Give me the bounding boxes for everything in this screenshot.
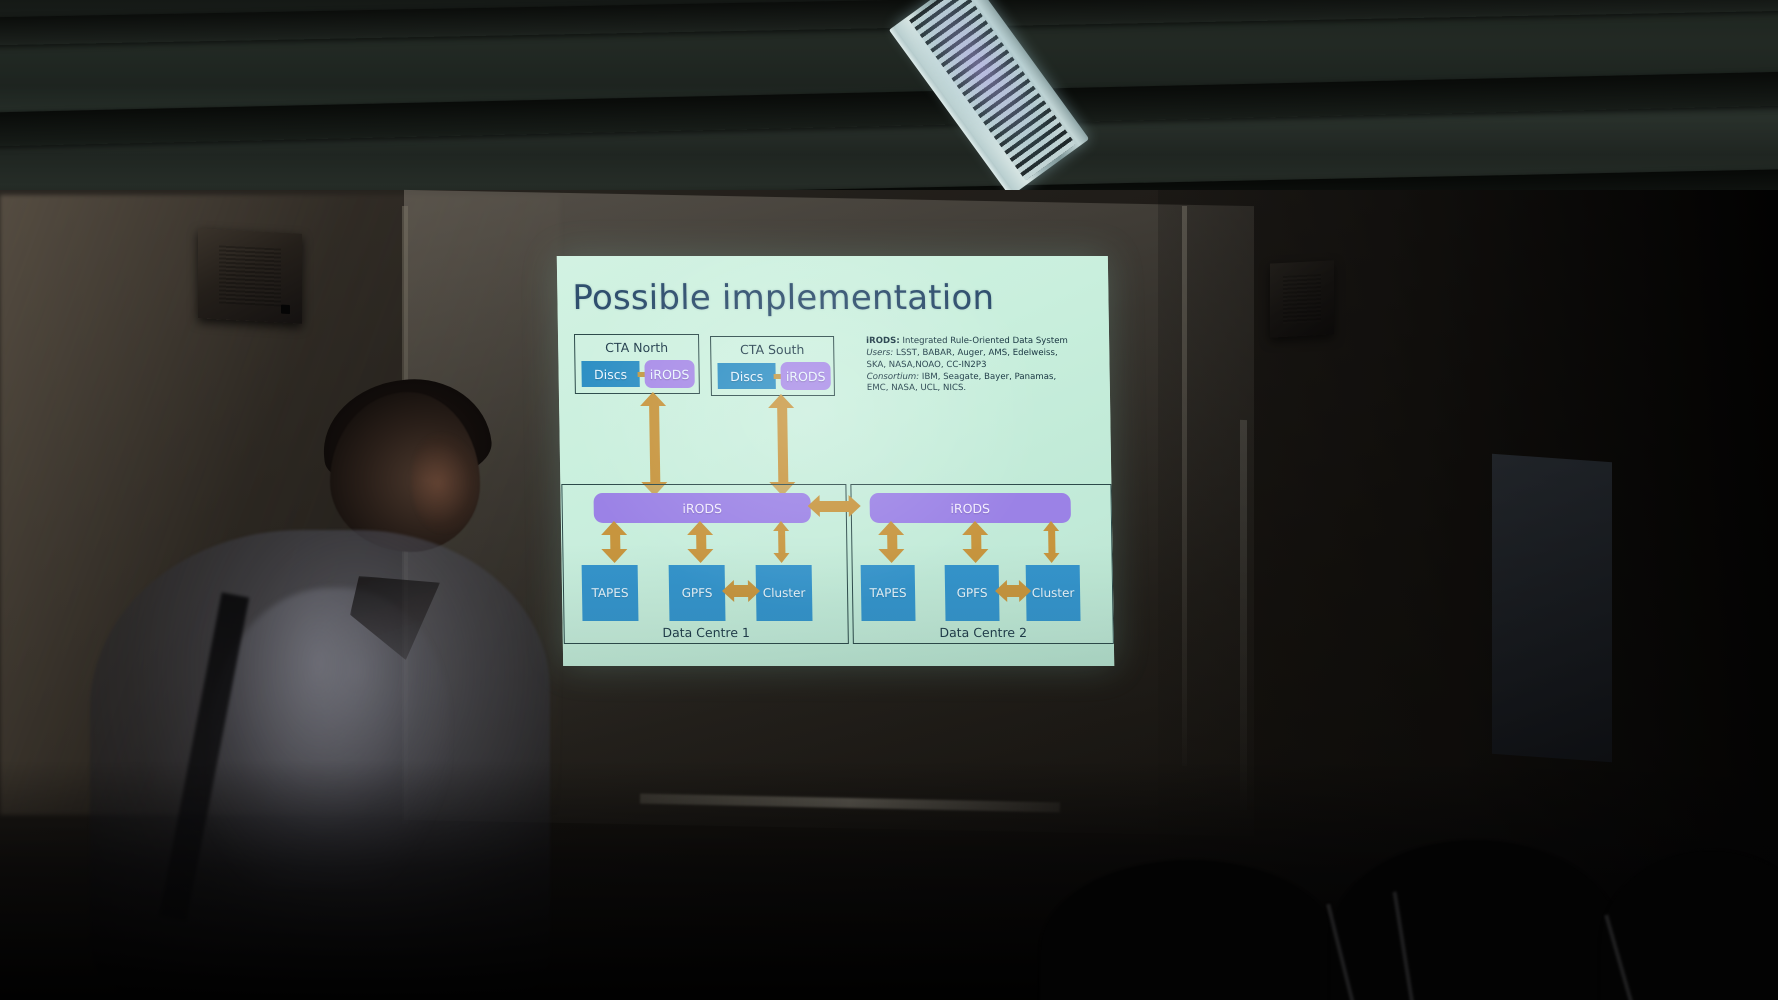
chair-frame-rail	[1604, 914, 1644, 1000]
info-text-users: LSST, BABAR, Auger, AMS, Edelweiss,	[893, 348, 1058, 358]
component-discs-north: Discs	[581, 361, 639, 387]
site-box-cta-north: CTA North Discs iRODS	[574, 334, 700, 394]
info-line-consortium: Consortium: IBM, Seagate, Bayer, Panamas…	[867, 372, 1099, 384]
component-irods-north: iRODS	[644, 360, 694, 388]
component-irods-south: iRODS	[780, 362, 830, 390]
info-line-users-cont: SKA, NASA,NOAO, CC-IN2P3	[866, 360, 1098, 372]
data-centre-1-irods-bar: iRODS	[593, 493, 810, 523]
info-line-definition: iRODS: Integrated Rule-Oriented Data Sys…	[866, 336, 1098, 348]
info-text-definition: Integrated Rule-Oriented Data System	[900, 336, 1068, 346]
projected-slide: Possible implementation CTA North Discs …	[557, 256, 1115, 666]
screen-edge-left	[402, 206, 408, 824]
dc1-resource-cluster: Cluster	[756, 565, 813, 621]
lecture-room-photo: Possible implementation CTA North Discs …	[0, 0, 1778, 1000]
slide-title: Possible implementation	[572, 278, 994, 318]
data-centre-1-box: iRODS TAPES GPFS Clus	[561, 484, 849, 644]
info-text-consortium: IBM, Seagate, Bayer, Panamas,	[919, 372, 1056, 382]
info-line-consortium-cont: EMC, NASA, UCL, NICS.	[867, 383, 1099, 395]
component-discs-south: Discs	[717, 363, 775, 389]
data-centre-2-label: Data Centre 2	[854, 625, 1113, 640]
data-centre-1-label: Data Centre 1	[565, 625, 848, 640]
site-label-cta-south: CTA South	[711, 342, 833, 357]
dc1-resource-gpfs: GPFS	[669, 565, 726, 621]
data-centre-2-box: iRODS TAPES GPFS Clus	[850, 484, 1114, 644]
wall-panel-right	[1492, 454, 1612, 762]
info-lead-users: Users:	[866, 348, 893, 358]
speaker-grille	[219, 246, 281, 307]
dc2-resource-gpfs: GPFS	[945, 565, 1000, 621]
chair-frame-rail	[1393, 892, 1420, 1000]
dc1-resource-tapes: TAPES	[582, 565, 639, 621]
dc2-resource-cluster: Cluster	[1026, 565, 1081, 621]
info-lead-irods: iRODS:	[866, 336, 900, 346]
irods-info-block: iRODS: Integrated Rule-Oriented Data Sys…	[866, 336, 1099, 395]
door-frame-edge	[1240, 420, 1247, 810]
info-line-users: Users: LSST, BABAR, Auger, AMS, Edelweis…	[866, 348, 1098, 360]
info-lead-consortium: Consortium:	[867, 372, 920, 382]
speaker-mount-bracket	[281, 305, 290, 314]
dc2-resource-tapes: TAPES	[861, 565, 916, 621]
site-label-cta-north: CTA North	[575, 340, 698, 355]
chair-frame-rail	[1326, 904, 1364, 1000]
slide-background: Possible implementation CTA North Discs …	[557, 256, 1115, 666]
site-box-cta-south: CTA South Discs iRODS	[710, 336, 835, 396]
wall-speaker-left	[198, 228, 302, 323]
data-centre-2-irods-bar: iRODS	[870, 493, 1071, 523]
